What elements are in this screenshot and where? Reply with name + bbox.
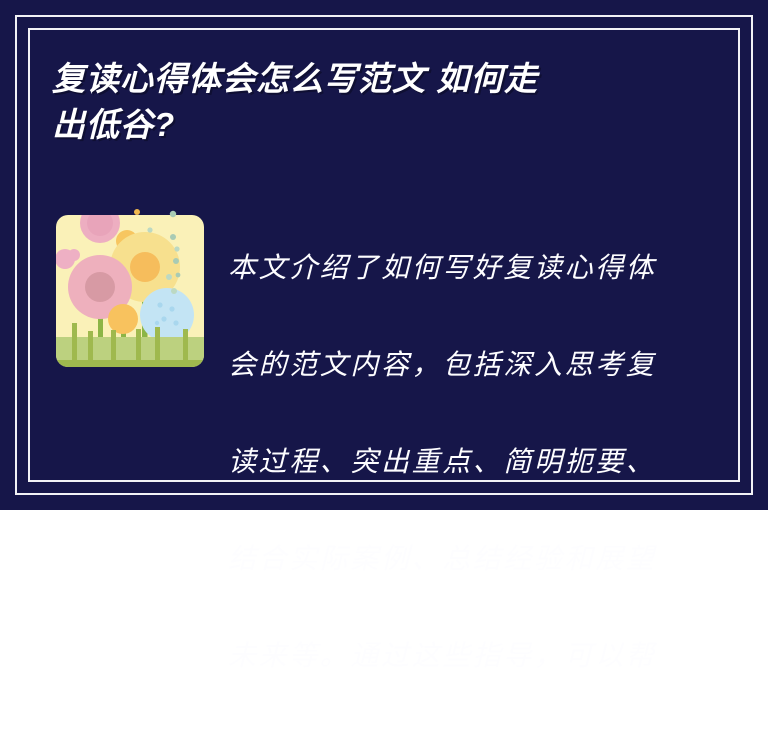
blue-flower-speck-3 <box>161 316 166 321</box>
edge-speck-4 <box>170 234 176 240</box>
poster-canvas: 复读心得体会怎么写范文 如何走 出低谷? <box>0 0 768 510</box>
edge-speck-9 <box>171 288 177 294</box>
edge-speck-3 <box>147 227 152 232</box>
blue-flower-speck-1 <box>157 302 162 307</box>
body-paragraph: 本文介绍了如何写好复读心得体 会的范文内容，包括深入思考复 读过程、突出重点、简… <box>228 196 716 730</box>
edge-speck-1 <box>134 209 140 215</box>
pink-flower-large-center <box>85 272 115 302</box>
grass-blade-1 <box>72 323 77 365</box>
illustration-svg <box>52 205 210 375</box>
body-line-1: 本文介绍了如何写好复读心得体 <box>228 245 716 294</box>
content-row: 本文介绍了如何写好复读心得体 会的范文内容，包括深入思考复 读过程、突出重点、简… <box>52 196 716 730</box>
body-line-2: 会的范文内容，包括深入思考复 <box>228 342 716 391</box>
blue-flower-speck-2 <box>169 306 174 311</box>
title-line-2: 出低谷? <box>52 102 692 148</box>
flower-garden-illustration <box>52 205 210 375</box>
pink-bud-small-b <box>68 249 80 261</box>
orange-flower-small <box>108 304 138 334</box>
grass-blade-5 <box>155 327 160 365</box>
blue-flower-speck-5 <box>155 321 159 325</box>
edge-speck-2 <box>170 211 176 217</box>
pink-blossom-top-center <box>87 210 113 236</box>
yellow-flower-large-center <box>130 252 160 282</box>
grass-blade-4 <box>136 329 141 365</box>
body-line-5: 未来等。通过这些指导，可以帮 <box>228 633 716 682</box>
body-line-3: 读过程、突出重点、简明扼要、 <box>228 439 716 488</box>
edge-speck-7 <box>166 274 172 280</box>
blue-flower-speck-4 <box>173 320 178 325</box>
ground-bar <box>52 360 210 368</box>
body-line-4: 结合实际案例、总结经验和展望 <box>228 536 716 585</box>
grass-blade-6 <box>183 329 188 365</box>
edge-speck-8 <box>176 273 181 278</box>
grass-blade-2 <box>88 331 93 365</box>
grass-blade-3 <box>111 330 116 365</box>
edge-speck-5 <box>174 246 179 251</box>
edge-speck-6 <box>173 258 179 264</box>
title-line-1: 复读心得体会怎么写范文 如何走 <box>52 56 692 102</box>
page-title: 复读心得体会怎么写范文 如何走 出低谷? <box>52 56 692 148</box>
